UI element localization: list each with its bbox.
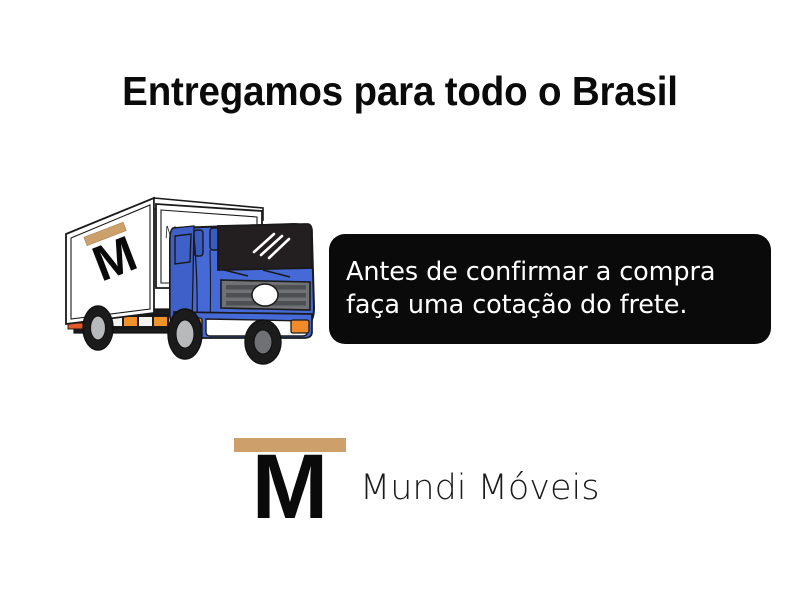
brand-wordmark: Mundi Móveis xyxy=(360,471,599,506)
promo-banner: Entregamos para todo o Brasil xyxy=(0,0,800,600)
page-title: Entregamos para todo o Brasil xyxy=(24,68,776,115)
right-turn-signal xyxy=(291,320,309,333)
grille-emblem xyxy=(252,284,278,306)
brand-logo-mark: M xyxy=(232,438,348,522)
front-grille xyxy=(221,280,310,310)
callout-line-1: Antes de confirmar a compra xyxy=(346,256,757,289)
callout-line-2: faça uma cotação do frete. xyxy=(346,289,757,322)
logo-letter-m: M xyxy=(252,438,329,522)
windshield xyxy=(218,224,312,270)
shipping-notice-callout: Antes de confirmar a compra faça uma cot… xyxy=(329,234,771,344)
delivery-truck-illustration: M Mundi Móveis xyxy=(58,176,326,366)
brand-logo: M Mundi Móveis xyxy=(232,438,599,522)
